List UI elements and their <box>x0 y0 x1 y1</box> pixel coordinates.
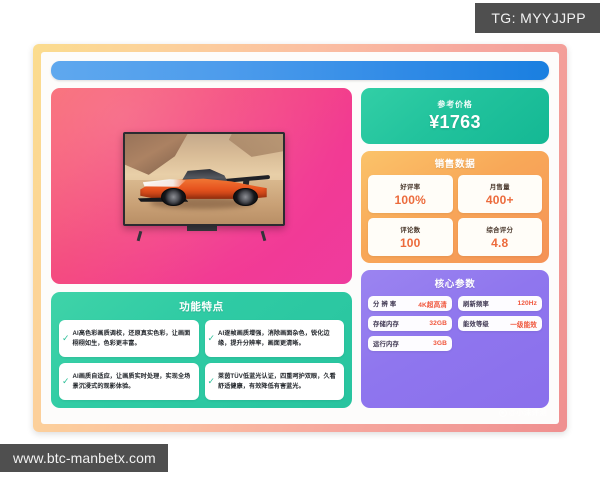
check-icon: ✓ <box>208 334 216 343</box>
price-label: 参考价格 <box>437 99 472 110</box>
feature-text: AI画质自适应，让画质实时处理，实现全场景沉浸式的观影体验。 <box>73 372 194 391</box>
feature-item: ✓ AI高色彩画质调校，还原真实色彩，让画面栩栩如生，色彩更丰富。 <box>59 320 199 357</box>
param-value: 4K超高清 <box>418 299 447 309</box>
param-key: 刷新频率 <box>463 299 489 308</box>
feature-item: ✓ AI逐帧画质增强，消除画面杂色，锐化边缘，提升分辨率，画面更清晰。 <box>205 320 345 357</box>
sales-cell-label: 综合评分 <box>486 224 513 234</box>
sales-cell-value: 100% <box>395 193 427 207</box>
param-chip: 分 辨 率 4K超高清 <box>368 296 452 311</box>
param-key: 存储内存 <box>373 319 399 328</box>
url-watermark: www.btc-manbetx.com <box>0 444 168 472</box>
core-params-grid: 分 辨 率 4K超高清 刷新频率 120Hz 存储内存 32GB <box>368 296 542 351</box>
tv-leg-left <box>137 230 142 240</box>
sales-cell-value: 4.8 <box>491 236 508 250</box>
poster-frame: 功能特点 ✓ AI高色彩画质调校，还原真实色彩，让画面栩栩如生，色彩更丰富。 ✓… <box>33 44 567 432</box>
param-value: 3GB <box>433 340 447 347</box>
weibo-handle: @小沫评测 <box>509 407 547 418</box>
tv-legs <box>123 231 281 241</box>
price-card: 参考价格 ¥1763 <box>361 88 549 144</box>
features-grid: ✓ AI高色彩画质调校，还原真实色彩，让画面栩栩如生，色彩更丰富。 ✓ AI逐帧… <box>59 320 344 400</box>
hero-product-card <box>51 88 352 284</box>
core-params-card: 核心参数 分 辨 率 4K超高清 刷新频率 120Hz 存储内存 <box>361 270 549 408</box>
core-params-title: 核心参数 <box>368 276 542 290</box>
left-column: 功能特点 ✓ AI高色彩画质调校，还原真实色彩，让画面栩栩如生，色彩更丰富。 ✓… <box>51 88 352 408</box>
param-value: 32GB <box>429 320 447 327</box>
param-value: 一级能效 <box>510 319 537 329</box>
features-title: 功能特点 <box>59 299 344 314</box>
screenshot-root: 功能特点 ✓ AI高色彩画质调校，还原真实色彩，让画面栩栩如生，色彩更丰富。 ✓… <box>0 0 600 480</box>
sales-title: 销售数据 <box>368 156 542 170</box>
feature-item: ✓ AI画质自适应，让画质实时处理，实现全场景沉浸式的观影体验。 <box>59 363 199 400</box>
sales-cell-value: 100 <box>400 236 421 250</box>
feature-text: 莱茵TÜV低蓝光认证，四重呵护双眼，久看舒适健康，有效降低有害蓝光。 <box>218 372 339 391</box>
car-rear-wheel <box>233 188 258 207</box>
sales-card: 销售数据 好评率 100% 月售量 400+ 评论数 <box>361 151 549 263</box>
telegram-watermark: TG: MYYJJPP <box>475 3 600 33</box>
feature-text: AI逐帧画质增强，消除画面杂色，锐化边缘，提升分辨率，画面更清晰。 <box>218 329 339 348</box>
sales-cell-value: 400+ <box>486 193 514 207</box>
param-chip: 存储内存 32GB <box>368 316 452 331</box>
price-value: ¥1763 <box>429 112 481 133</box>
weibo-eye-icon <box>499 409 507 417</box>
weibo-watermark: @小沫评测 <box>499 407 547 418</box>
sales-cell: 评论数 100 <box>368 218 453 256</box>
sports-car-illustration <box>140 161 266 208</box>
param-chip: 刷新频率 120Hz <box>458 296 542 311</box>
param-key: 运行内存 <box>373 339 399 348</box>
check-icon: ✓ <box>62 377 70 386</box>
sales-cell: 好评率 100% <box>368 175 453 213</box>
sales-cell-label: 月售量 <box>490 181 510 191</box>
sales-cell-label: 好评率 <box>400 181 420 191</box>
check-icon: ✓ <box>62 334 70 343</box>
right-column: 参考价格 ¥1763 销售数据 好评率 100% 月售量 40 <box>361 88 549 408</box>
features-card: 功能特点 ✓ AI高色彩画质调校，还原真实色彩，让画面栩栩如生，色彩更丰富。 ✓… <box>51 292 352 408</box>
tv-screen <box>123 132 285 226</box>
car-stripe <box>143 179 186 186</box>
check-icon: ✓ <box>208 377 216 386</box>
param-chip: 运行内存 3GB <box>368 336 452 351</box>
poster-content: 功能特点 ✓ AI高色彩画质调校，还原真实色彩，让画面栩栩如生，色彩更丰富。 ✓… <box>51 88 549 408</box>
param-value: 120Hz <box>517 300 537 307</box>
top-accent-bar <box>51 61 549 80</box>
poster-inner: 功能特点 ✓ AI高色彩画质调校，还原真实色彩，让画面栩栩如生，色彩更丰富。 ✓… <box>41 52 559 424</box>
car-front-wheel <box>161 188 186 207</box>
sales-cell-label: 评论数 <box>400 224 420 234</box>
feature-text: AI高色彩画质调校，还原真实色彩，让画面栩栩如生，色彩更丰富。 <box>73 329 194 348</box>
param-key: 分 辨 率 <box>373 299 396 308</box>
sales-cell: 月售量 400+ <box>458 175 543 213</box>
sales-cell: 综合评分 4.8 <box>458 218 543 256</box>
tv-leg-right <box>261 230 266 240</box>
tv-illustration <box>123 132 281 241</box>
feature-item: ✓ 莱茵TÜV低蓝光认证，四重呵护双眼，久看舒适健康，有效降低有害蓝光。 <box>205 363 345 400</box>
param-chip: 能效等级 一级能效 <box>458 316 542 331</box>
param-key: 能效等级 <box>463 319 489 328</box>
sales-grid: 好评率 100% 月售量 400+ 评论数 100 <box>368 175 542 256</box>
